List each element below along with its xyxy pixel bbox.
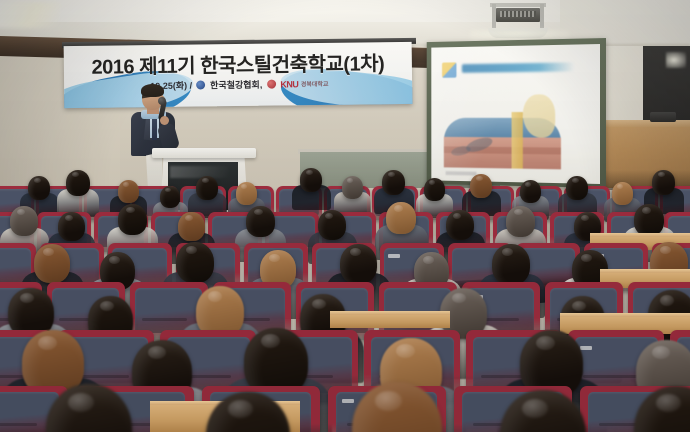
audience-hair-highlight — [423, 256, 434, 264]
audience-hair-highlight — [202, 178, 209, 183]
audience-hair-highlight — [656, 394, 681, 412]
audience-hair-highlight — [525, 182, 531, 187]
audience-hair-highlight — [452, 293, 466, 303]
seat-back-slot — [583, 375, 639, 378]
audience-hair-highlight — [581, 254, 592, 262]
seat-back-slot — [142, 318, 187, 321]
audience-hair-highlight — [306, 170, 313, 175]
audience-hair-highlight — [375, 391, 402, 411]
audience-hair-highlight — [350, 248, 361, 256]
audience-hair-highlight — [453, 213, 461, 219]
audience-hair-highlight — [20, 293, 34, 303]
audience-hair-highlight — [254, 209, 263, 215]
audience-hair-highlight — [660, 246, 671, 254]
audience-hair-highlight — [43, 248, 54, 256]
audience-hair-highlight — [208, 291, 222, 302]
audience-hair-highlight — [65, 215, 73, 221]
desk-surface-4 — [330, 314, 450, 328]
audience-hair-highlight — [261, 334, 280, 348]
audience-hair-highlight — [269, 254, 280, 262]
audience-hair-highlight — [572, 301, 586, 311]
audience-hair-highlight — [123, 182, 129, 187]
audience-hair-highlight — [325, 213, 333, 219]
audience-hair-highlight — [396, 344, 415, 358]
audience-hair-highlight — [572, 178, 579, 183]
audience-hair-highlight — [522, 399, 548, 418]
audience-hair-highlight — [34, 178, 41, 183]
seat-back-slot — [0, 423, 37, 426]
audience-hair-highlight — [38, 336, 57, 350]
seat-number-tag — [580, 346, 592, 350]
audience-hair-highlight — [185, 215, 193, 221]
audience-hair-highlight — [658, 172, 665, 177]
audience-hair-highlight — [642, 207, 651, 214]
audience-hair-highlight — [17, 209, 25, 215]
audience-hair-highlight — [617, 184, 623, 189]
audience-hair-highlight — [109, 256, 120, 264]
audience-hair-highlight — [476, 176, 483, 181]
desk-edge-1 — [590, 233, 690, 237]
audience-hair-highlight — [660, 295, 674, 306]
audience-hair-highlight — [652, 346, 670, 359]
desk-edge-2 — [600, 269, 690, 273]
audience-hair-highlight — [514, 209, 523, 215]
lecture-hall-photo: 2016 제11기 한국스틸건축학교(1차) .10.25(화) / 한국철강협… — [0, 0, 690, 432]
audience-hair-highlight — [347, 178, 353, 183]
audience-hair-highlight — [100, 301, 114, 311]
audience-hair-highlight — [228, 400, 253, 418]
audience-hair-highlight — [186, 246, 197, 254]
audience-hair-highlight — [312, 299, 326, 309]
audience-hair-highlight — [165, 188, 171, 192]
auditorium-seating — [0, 0, 690, 432]
audience-hair-highlight — [429, 180, 435, 185]
audience-hair-highlight — [126, 207, 135, 213]
seat-number-tag — [342, 399, 354, 403]
audience-hair-highlight — [72, 172, 79, 177]
audience-hair-highlight — [394, 205, 403, 212]
audience-hair-highlight — [536, 336, 555, 350]
seat-number-tag — [388, 254, 400, 258]
audience-hair-highlight — [388, 172, 395, 177]
audience-hair-highlight — [581, 215, 589, 221]
audience-hair-highlight — [68, 393, 94, 412]
desk-edge-3 — [560, 313, 690, 317]
desk-edge-4 — [330, 311, 450, 315]
audience-hair-highlight — [241, 184, 247, 189]
audience-hair-highlight — [502, 248, 513, 256]
audience-hair-highlight — [148, 346, 166, 359]
